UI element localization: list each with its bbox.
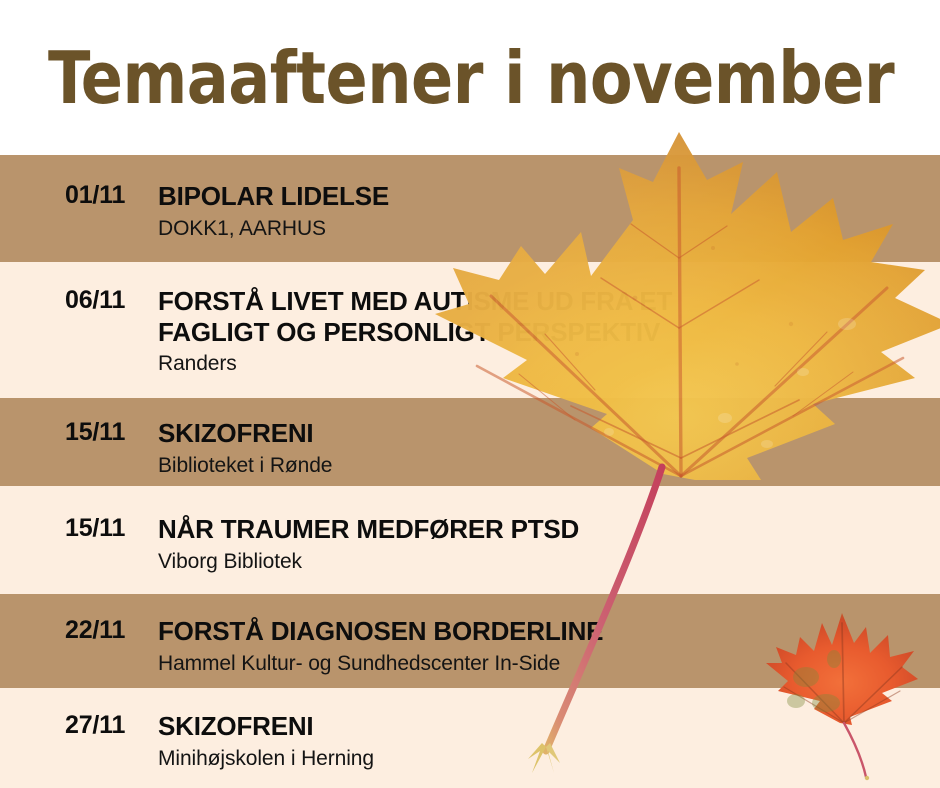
event-title: SKIZOFRENI [158,711,940,742]
event-title: SKIZOFRENI [158,418,940,449]
event-list: 01/11 BIPOLAR LIDELSE DOKK1, AARHUS 06/1… [0,155,940,788]
event-venue: Hammel Kultur- og Sundhedscenter In-Side [158,650,940,677]
event-title: BIPOLAR LIDELSE [158,181,940,212]
event-date: 27/11 [0,711,158,740]
event-body: SKIZOFRENI Biblioteket i Rønde [158,418,940,479]
event-date: 22/11 [0,616,158,645]
event-row-4[interactable]: 15/11 NÅR TRAUMER MEDFØRER PTSD Viborg B… [0,486,940,594]
event-body: SKIZOFRENI Minihøjskolen i Herning [158,711,940,772]
event-row-2[interactable]: 06/11 FORSTÅ LIVET MED AUTISME UD FRA ET… [0,262,940,398]
event-row-3[interactable]: 15/11 SKIZOFRENI Biblioteket i Rønde [0,398,940,486]
event-row-6[interactable]: 27/11 SKIZOFRENI Minihøjskolen i Herning [0,688,940,788]
event-body: FORSTÅ DIAGNOSEN BORDERLINE Hammel Kultu… [158,616,940,677]
event-body: NÅR TRAUMER MEDFØRER PTSD Viborg Bibliot… [158,514,940,575]
event-date: 01/11 [0,181,158,210]
event-venue: DOKK1, AARHUS [158,215,940,242]
event-venue: Viborg Bibliotek [158,548,940,575]
event-date: 15/11 [0,514,158,543]
poster-header: Temaaftener i november [0,0,940,155]
event-row-5[interactable]: 22/11 FORSTÅ DIAGNOSEN BORDERLINE Hammel… [0,594,940,688]
event-venue: Randers [158,350,940,377]
event-title: FORSTÅ LIVET MED AUTISME UD FRA ET FAGLI… [158,286,940,347]
event-date: 15/11 [0,418,158,447]
event-row-1[interactable]: 01/11 BIPOLAR LIDELSE DOKK1, AARHUS [0,155,940,262]
event-date: 06/11 [0,286,158,315]
event-venue: Minihøjskolen i Herning [158,745,940,772]
event-title: FORSTÅ DIAGNOSEN BORDERLINE [158,616,940,647]
page-title: Temaaftener i november [48,42,894,114]
event-body: BIPOLAR LIDELSE DOKK1, AARHUS [158,181,940,242]
event-body: FORSTÅ LIVET MED AUTISME UD FRA ET FAGLI… [158,286,940,378]
event-venue: Biblioteket i Rønde [158,452,940,479]
event-title: NÅR TRAUMER MEDFØRER PTSD [158,514,940,545]
poster-canvas: Temaaftener i november 01/11 BIPOLAR LID… [0,0,940,788]
